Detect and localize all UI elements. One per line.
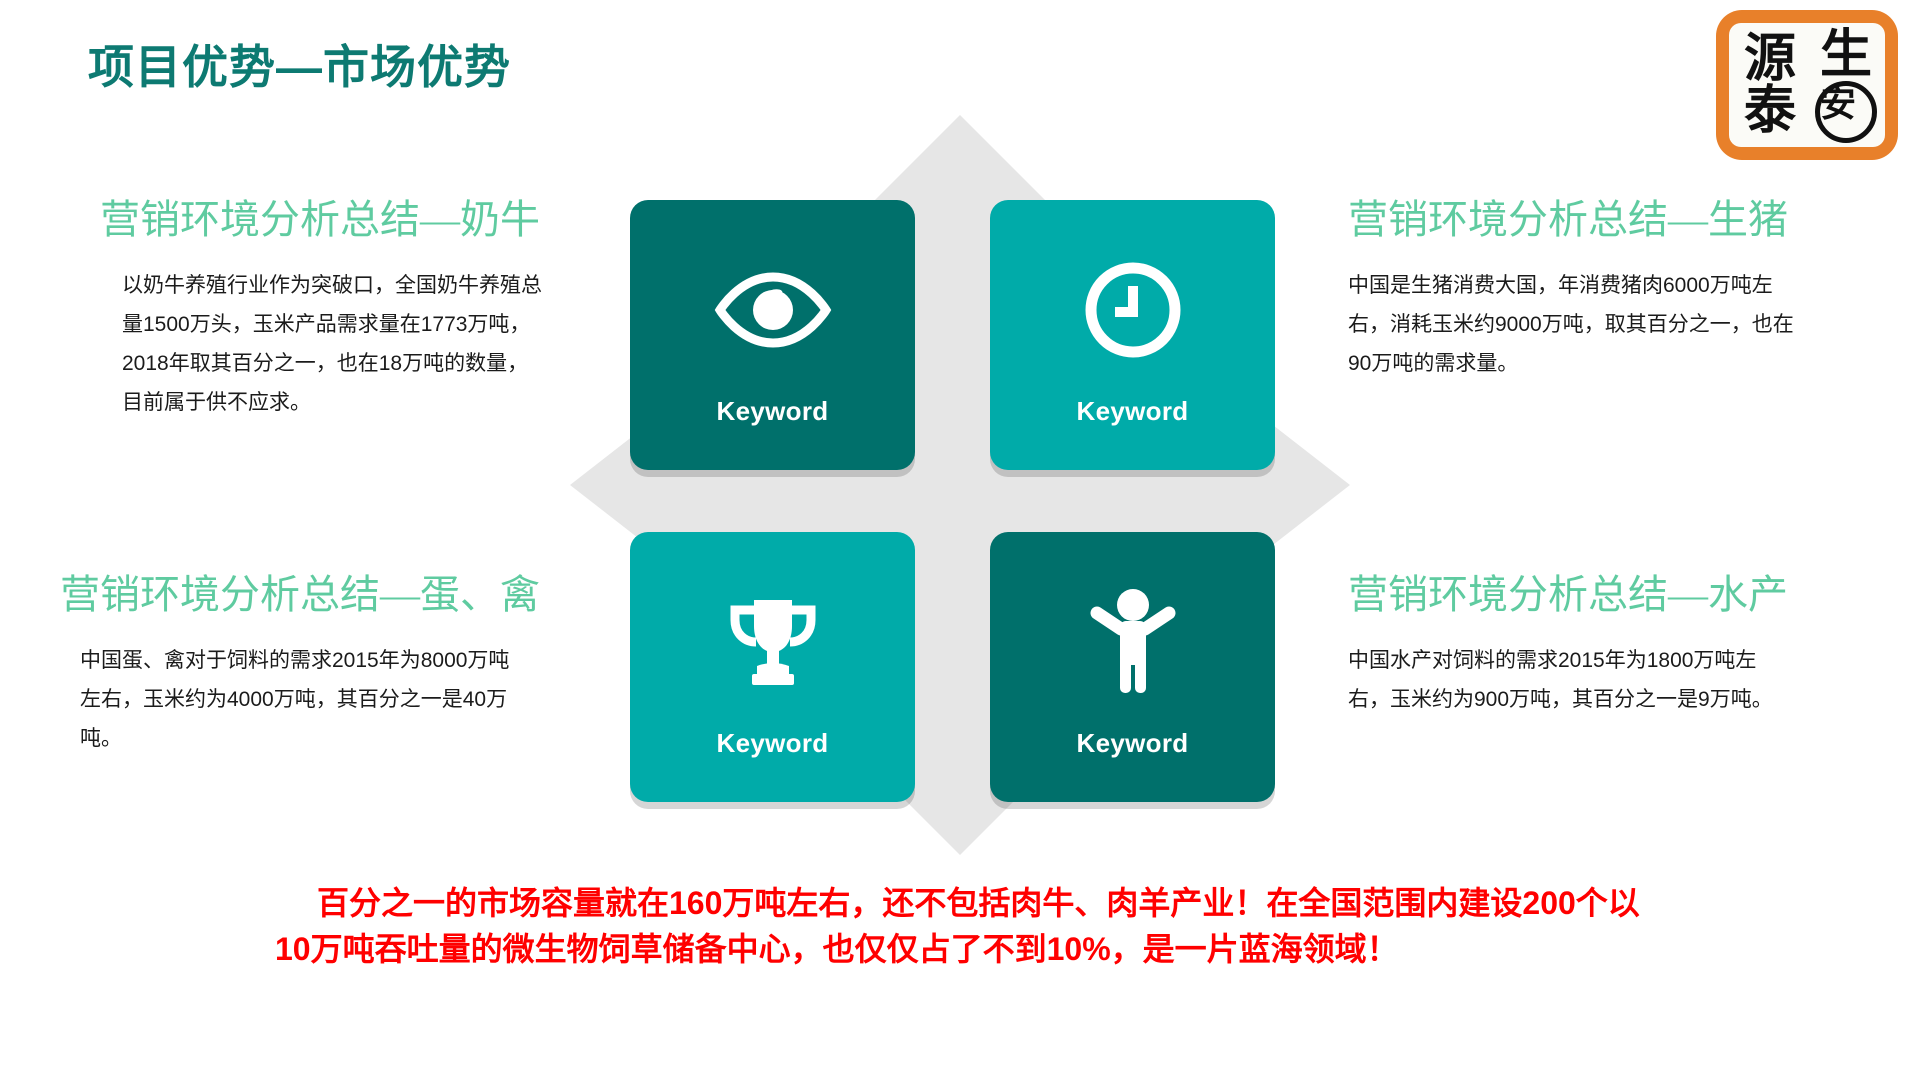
- card-eye[interactable]: Keyword: [630, 200, 915, 470]
- card-label: Keyword: [717, 728, 829, 759]
- clock-icon: [1081, 250, 1185, 370]
- person-icon: [1083, 582, 1183, 702]
- slide-root: 项目优势—市场优势 源 生 泰 安 Keyword: [0, 0, 1920, 1080]
- block-pig: 营销环境分析总结—生猪 中国是生猪消费大国，年消费猪肉6000万吨左右，消耗玉米…: [1348, 195, 1828, 384]
- card-label: Keyword: [1077, 396, 1189, 427]
- block-aqua-heading: 营销环境分析总结—水产: [1348, 570, 1828, 620]
- logo-characters: 源 生 泰 安: [1729, 23, 1885, 147]
- eye-icon: [714, 250, 832, 370]
- block-cow-heading: 营销环境分析总结—奶牛: [100, 195, 570, 245]
- trophy-icon: [721, 582, 825, 702]
- block-aqua-body: 中国水产对饲料的需求2015年为1800万吨左右，玉米约为900万吨，其百分之一…: [1348, 642, 1788, 720]
- block-egg-body: 中国蛋、禽对于饲料的需求2015年为8000万吨左右，玉米约为4000万吨，其百…: [60, 642, 510, 759]
- card-person[interactable]: Keyword: [990, 532, 1275, 802]
- block-pig-body: 中国是生猪消费大国，年消费猪肉6000万吨左右，消耗玉米约9000万吨，取其百分…: [1348, 267, 1798, 384]
- block-pig-heading: 营销环境分析总结—生猪: [1348, 195, 1828, 245]
- company-logo: 源 生 泰 安: [1716, 10, 1898, 160]
- keyword-card-grid: Keyword Keyword: [630, 200, 1290, 810]
- logo-char-an-circle: 安: [1815, 81, 1877, 143]
- page-title: 项目优势—市场优势: [88, 40, 511, 95]
- logo-char-yuan: 源: [1744, 34, 1796, 86]
- block-egg-heading: 营销环境分析总结—蛋、禽: [60, 570, 555, 620]
- logo-char-tai: 泰: [1744, 86, 1796, 138]
- block-aqua: 营销环境分析总结—水产 中国水产对饲料的需求2015年为1800万吨左右，玉米约…: [1348, 570, 1828, 720]
- block-cow-body: 以奶牛养殖行业作为突破口，全国奶牛养殖总量1500万头，玉米产品需求量在1773…: [100, 267, 545, 422]
- card-label: Keyword: [717, 396, 829, 427]
- block-egg: 营销环境分析总结—蛋、禽 中国蛋、禽对于饲料的需求2015年为8000万吨左右，…: [60, 570, 555, 759]
- logo-char-sheng: 生: [1820, 30, 1872, 82]
- block-cow: 营销环境分析总结—奶牛 以奶牛养殖行业作为突破口，全国奶牛养殖总量1500万头，…: [100, 195, 570, 422]
- card-clock[interactable]: Keyword: [990, 200, 1275, 470]
- card-trophy[interactable]: Keyword: [630, 532, 915, 802]
- card-label: Keyword: [1077, 728, 1189, 759]
- footer-highlight-note: 百分之一的市场容量就在160万吨左右，还不包括肉牛、肉羊产业！在全国范围内建设2…: [275, 880, 1655, 973]
